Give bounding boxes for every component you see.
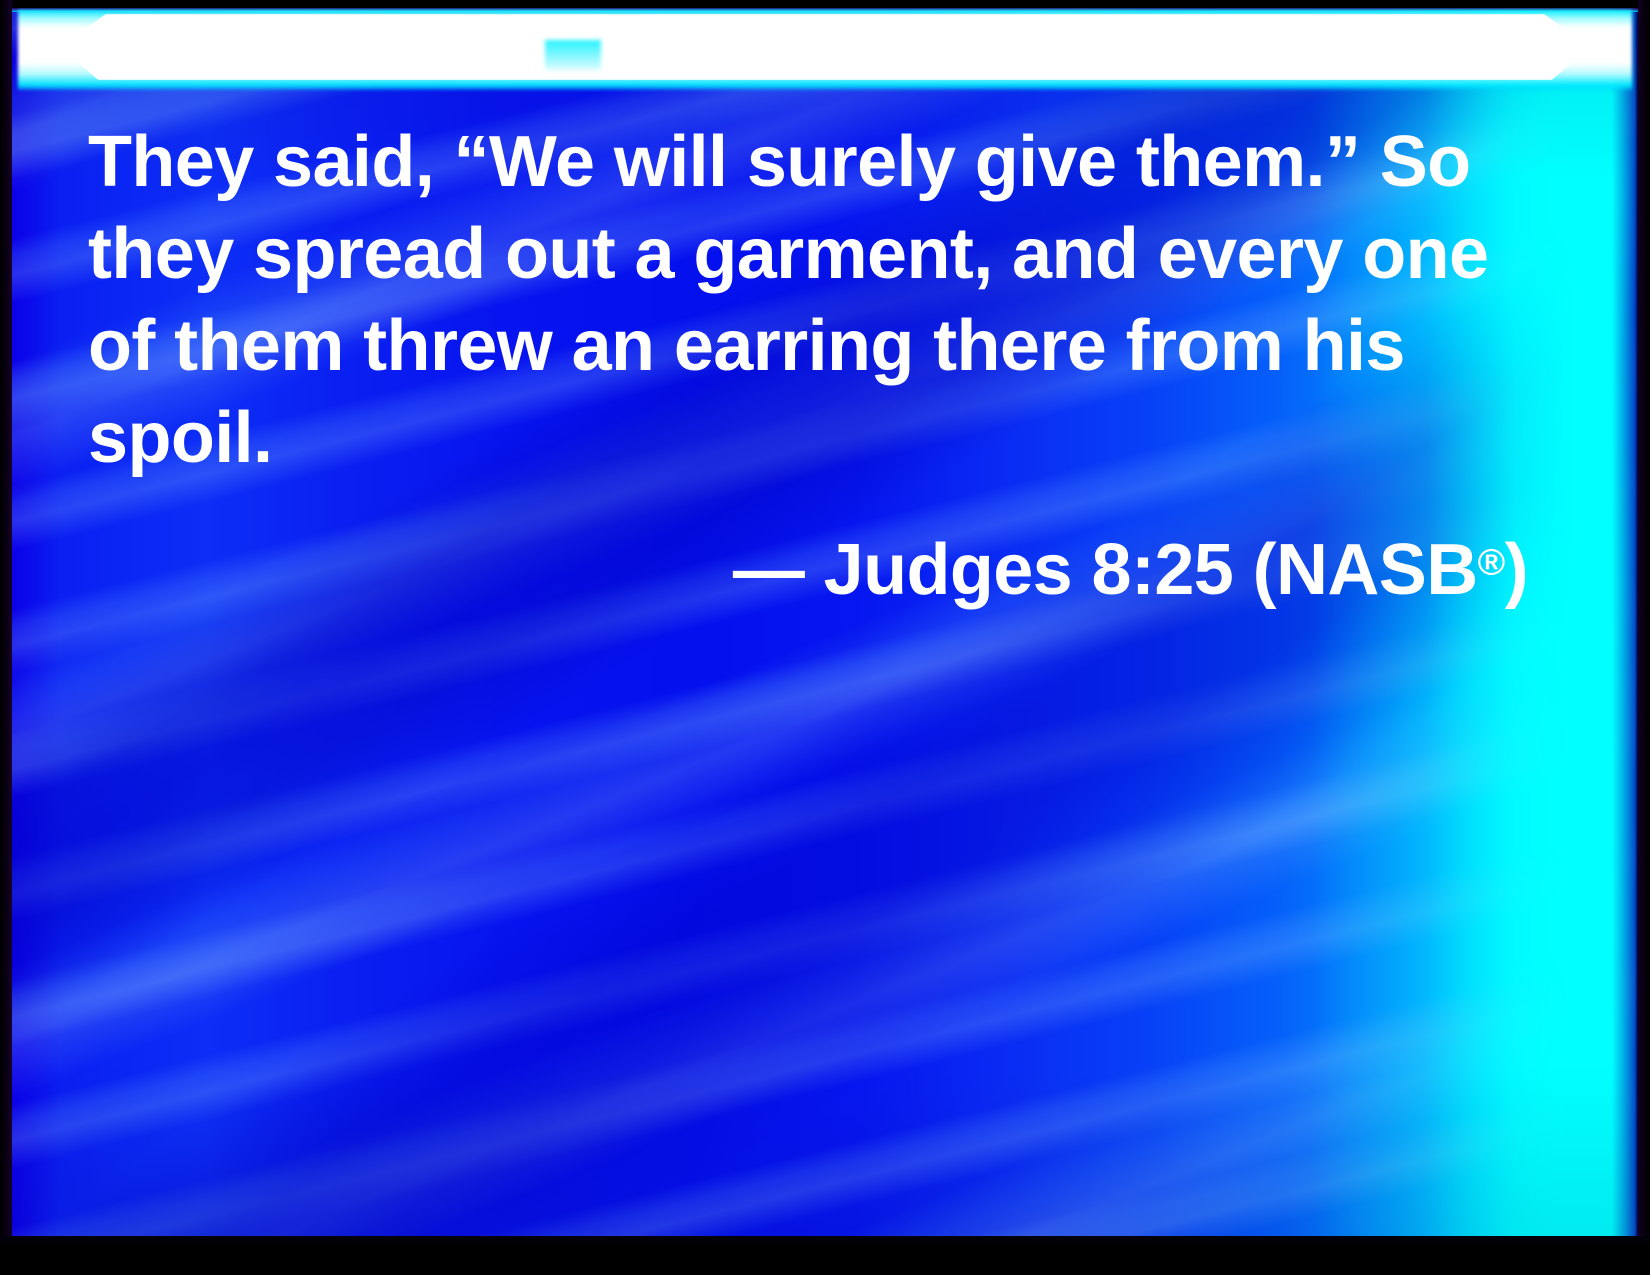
frame-edge-top xyxy=(0,0,1650,8)
frame-edge-bottom xyxy=(0,1236,1650,1275)
registered-trademark-icon: ® xyxy=(1478,541,1505,583)
verse-block: They said, “We will surely give them.” S… xyxy=(88,116,1528,612)
verse-attribution: — Judges 8:25 (NASB®) xyxy=(88,528,1528,612)
attribution-prefix: — Judges 8:25 (NASB xyxy=(733,530,1478,610)
verse-slide: They said, “We will surely give them.” S… xyxy=(0,0,1650,1275)
verse-text: They said, “We will surely give them.” S… xyxy=(88,116,1528,484)
attribution-suffix: ) xyxy=(1505,530,1528,610)
frame-edge-left xyxy=(0,0,12,1275)
frame-edge-right xyxy=(1638,0,1650,1275)
